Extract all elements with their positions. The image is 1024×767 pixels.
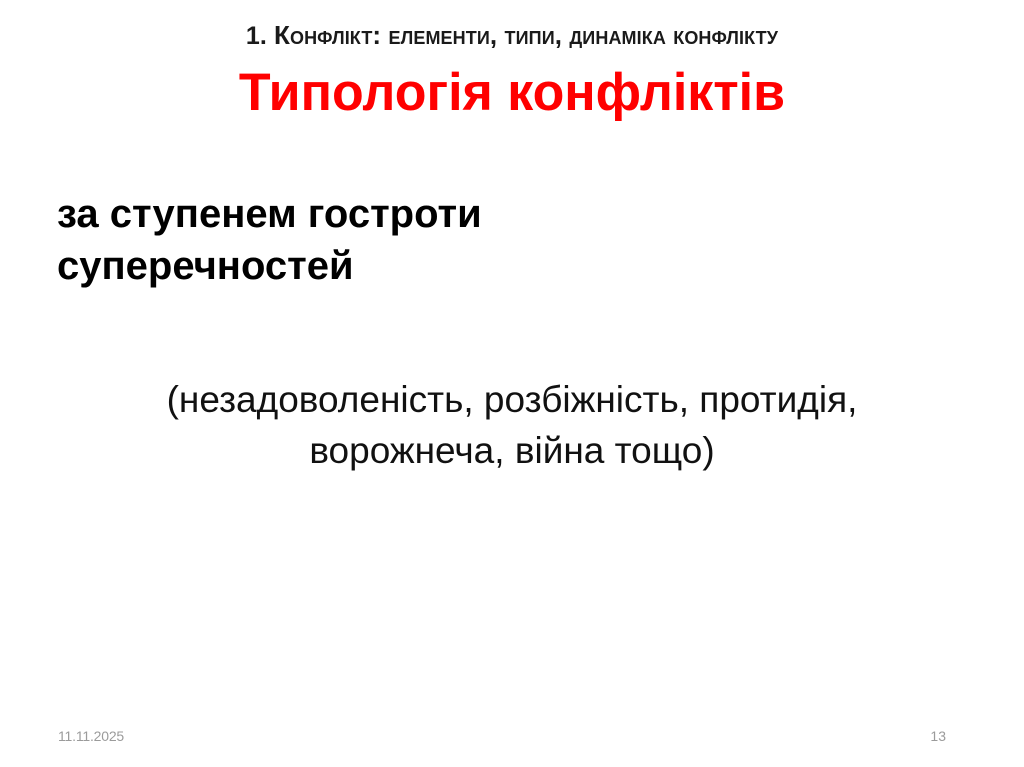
lead-paragraph: за ступенем гостроти суперечностей (57, 188, 877, 292)
slide-footer: 11.11.2025 13 (0, 727, 1024, 747)
slide-title: Типологія конфліктів (10, 62, 1014, 124)
lead-line-1: за ступенем гостроти (57, 188, 877, 240)
detail-paragraph: (незадоволеність, розбіжність, протидія,… (62, 374, 962, 476)
presentation-slide: 1. Конфлікт: елементи, типи, динаміка ко… (0, 0, 1024, 767)
slide-running-header: 1. Конфлікт: елементи, типи, динаміка ко… (0, 20, 1024, 51)
footer-date: 11.11.2025 (58, 727, 124, 745)
detail-line-1: (незадоволеність, розбіжність, протидія, (62, 374, 962, 425)
detail-line-2: ворожнеча, війна тощо) (62, 425, 962, 476)
header-section-number: 1. (246, 22, 267, 50)
footer-page-number: 13 (930, 727, 946, 745)
lead-line-2: суперечностей (57, 240, 877, 292)
header-section-title: Конфлікт: елементи, типи, динаміка конфл… (274, 20, 778, 50)
